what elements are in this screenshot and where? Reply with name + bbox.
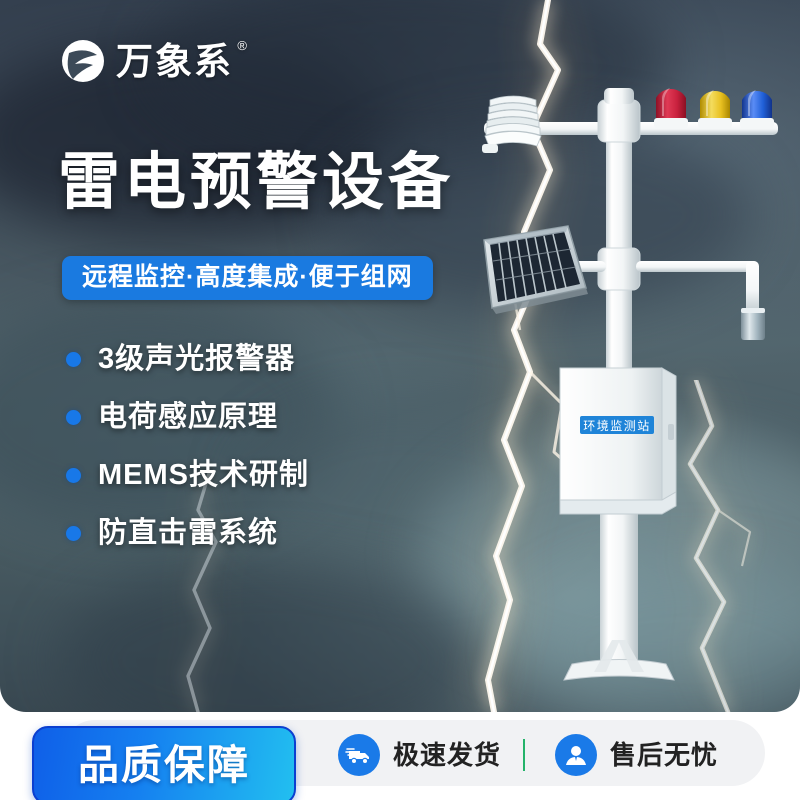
brand-name-wrap: 万象系 ® [116,43,233,80]
feature-label: 电荷感应原理 [98,403,278,432]
blue-dot-icon [66,352,81,367]
feature-label: 防直击雷系统 [98,519,278,548]
brand-name: 万象系 [116,41,233,82]
hero-subtitle: 远程监控·高度集成·便于组网 [62,256,433,300]
blue-dot-icon [66,526,81,541]
trust-item-shipping: 极速发货 [338,734,501,776]
brand-logo: 万象系 ® [60,38,233,84]
feature-label: MEMS技术研制 [98,461,309,490]
feature-list: 3级声光报警器 电荷感应原理 MEMS技术研制 防直击雷系统 [66,345,309,548]
louvered-radiation-shield [482,96,541,153]
yellow-alarm-beacon [700,91,730,118]
blue-dot-icon [66,410,81,425]
blue-dot-icon [66,468,81,483]
customer-service-person-icon [555,734,597,776]
solar-panel [484,226,588,314]
base-plate [564,660,674,681]
sensor-arm [636,261,765,340]
registered-mark: ® [237,39,249,52]
trust-divider [523,739,525,771]
quality-badge-label: 品质保障 [78,745,250,786]
red-alarm-beacon [656,89,686,118]
product-banner: 环境监测站 万象系 ® 雷电预警设备 远程监控·高度集成·便于组网 3级声光报警… [0,0,800,800]
delivery-truck-icon [338,734,380,776]
trust-item-service: 售后无忧 [555,734,718,776]
product-illustration: 环境监测站 [440,80,800,700]
cabinet-label-text: 环境监测站 [583,418,651,433]
swoosh-circle-logo-icon [60,38,106,84]
blue-alarm-beacon [742,91,772,118]
list-item: 3级声光报警器 [66,345,309,374]
page-title: 雷电预警设备 [58,152,454,214]
list-item: MEMS技术研制 [66,461,309,490]
alarm-beacon-stack [654,88,774,128]
trust-item-label: 极速发货 [393,742,501,768]
feature-label: 3级声光报警器 [98,345,295,374]
mast-collar-top [598,100,640,142]
trust-bar: 品质保障 极速发货 [0,712,800,800]
list-item: 防直击雷系统 [66,519,309,548]
quality-badge: 品质保障 [32,726,296,800]
list-item: 电荷感应原理 [66,403,309,432]
trust-item-label: 售后无忧 [610,742,718,768]
control-cabinet: 环境监测站 [560,368,676,514]
hero-image: 环境监测站 万象系 ® 雷电预警设备 远程监控·高度集成·便于组网 3级声光报警… [0,0,800,712]
